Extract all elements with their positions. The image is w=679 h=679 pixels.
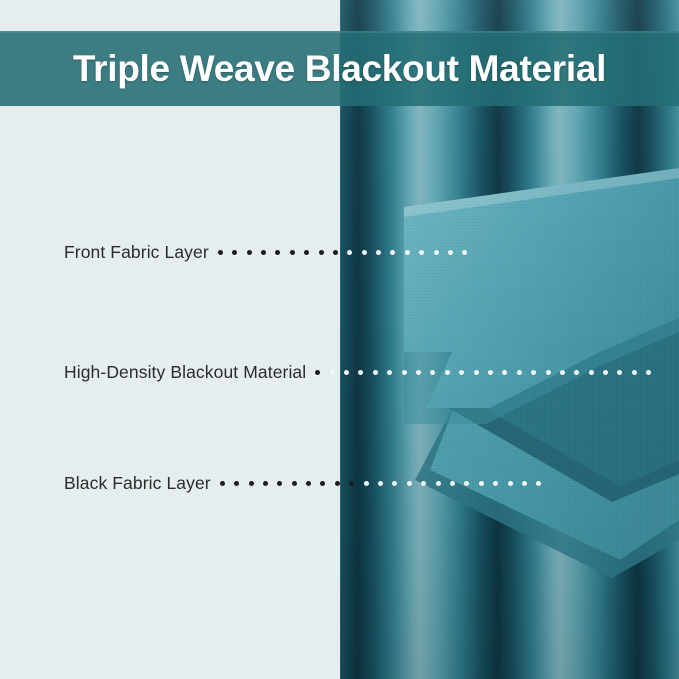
leader-dot (263, 481, 268, 486)
leader-dot (392, 481, 397, 486)
leader-dot (430, 370, 435, 375)
leader-dot (603, 370, 608, 375)
leader-dot (319, 250, 324, 255)
leader-dot (335, 481, 340, 486)
leader-dot (277, 481, 282, 486)
leader-dot (378, 481, 383, 486)
leader-dot (220, 481, 225, 486)
leader-dot (330, 370, 335, 375)
callout-black-fabric-layer: Black Fabric Layer (64, 471, 551, 495)
leader-dot (502, 370, 507, 375)
leader-dot (292, 481, 297, 486)
leader-dot (333, 250, 338, 255)
leader-dot (488, 370, 493, 375)
leader-dot (434, 250, 439, 255)
leader-dots-front-fabric-layer (218, 250, 477, 255)
callout-label-high-density-blackout-material: High-Density Blackout Material (64, 360, 306, 384)
leader-dot (522, 481, 527, 486)
callout-label-front-fabric-layer: Front Fabric Layer (64, 240, 209, 264)
leader-dot (247, 250, 252, 255)
leader-dot (617, 370, 622, 375)
leader-dot (402, 370, 407, 375)
leader-dot (517, 370, 522, 375)
leader-dot (462, 250, 467, 255)
leader-dot (546, 370, 551, 375)
leader-dot (261, 250, 266, 255)
infographic-canvas: Triple Weave Blackout Material Front Fab… (0, 0, 679, 679)
leader-dot (479, 481, 484, 486)
leader-dot (234, 481, 239, 486)
leader-dot (320, 481, 325, 486)
leader-dot (290, 250, 295, 255)
leader-dot (646, 370, 651, 375)
leader-dots-black-fabric-layer (220, 481, 551, 486)
leader-dot (275, 250, 280, 255)
callout-label-black-fabric-layer: Black Fabric Layer (64, 471, 211, 495)
leader-dot (536, 481, 541, 486)
leader-dot (419, 250, 424, 255)
leader-dot (589, 370, 594, 375)
leader-dot (232, 250, 237, 255)
leader-dot (459, 370, 464, 375)
leader-dot (364, 481, 369, 486)
leader-dot (315, 370, 320, 375)
leader-dot (450, 481, 455, 486)
leader-dot (358, 370, 363, 375)
leader-dot (508, 481, 513, 486)
leader-dot (306, 481, 311, 486)
leader-dot (493, 481, 498, 486)
leader-dot (407, 481, 412, 486)
leader-dot (304, 250, 309, 255)
leader-dot (387, 370, 392, 375)
leader-dot (344, 370, 349, 375)
leader-dot (376, 250, 381, 255)
leader-dot (249, 481, 254, 486)
leader-dot (474, 370, 479, 375)
leader-dots-high-density-blackout-material (315, 370, 660, 375)
leader-dot (464, 481, 469, 486)
leader-dot (445, 370, 450, 375)
callout-high-density-blackout-material: High-Density Blackout Material (64, 360, 661, 384)
leader-dot (390, 250, 395, 255)
callout-front-fabric-layer: Front Fabric Layer (64, 240, 477, 264)
leader-dot (632, 370, 637, 375)
leader-dot (218, 250, 223, 255)
leader-dot (373, 370, 378, 375)
leader-dot (362, 250, 367, 255)
leader-dot (560, 370, 565, 375)
leader-dot (436, 481, 441, 486)
leader-dot (531, 370, 536, 375)
leader-dot (448, 250, 453, 255)
leader-dot (416, 370, 421, 375)
leader-dot (421, 481, 426, 486)
leader-dot (405, 250, 410, 255)
page-title: Triple Weave Blackout Material (0, 31, 679, 106)
leader-dot (347, 250, 352, 255)
leader-dot (349, 481, 354, 486)
leader-dot (574, 370, 579, 375)
